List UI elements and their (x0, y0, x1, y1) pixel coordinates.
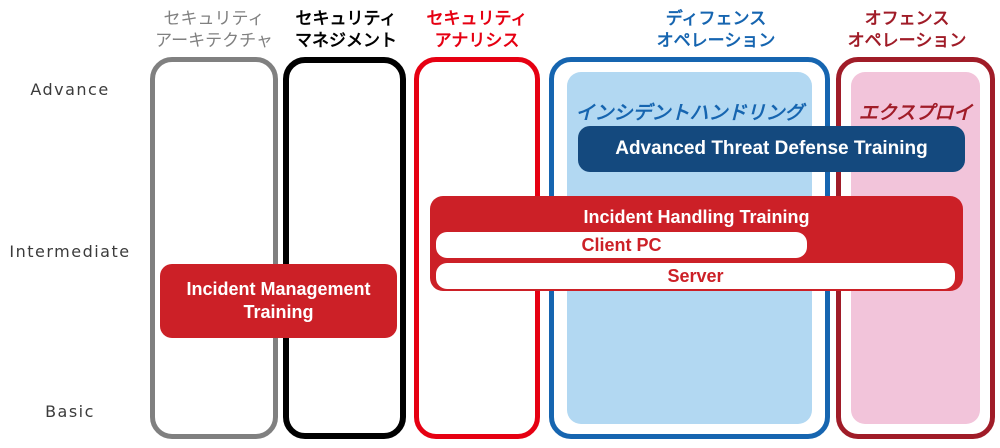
column-header-security-management: セキュリティ マネジメント (272, 8, 420, 52)
course-box-incident-handling-training[interactable]: Incident Handling Training Client PC Ser… (430, 196, 963, 291)
course-box-incident-handling-training-label: Incident Handling Training (430, 207, 963, 228)
course-variant-server[interactable]: Server (436, 263, 955, 289)
axis-label-advance: Advance (0, 80, 140, 99)
course-variant-client-pc[interactable]: Client PC (436, 232, 807, 258)
column-frame-security-management[interactable] (283, 57, 406, 439)
course-box-advanced-threat-defense-training[interactable]: Advanced Threat Defense Training (578, 126, 965, 172)
column-header-security-architecture: セキュリティ アーキテクチャ (140, 8, 288, 52)
column-header-offense-operation: オフェンス オペレーション (818, 8, 996, 52)
column-header-defense-operation: ディフェンス オペレーション (616, 8, 816, 52)
inner-panel-label-incident-handling: インシデントハンドリング (567, 98, 812, 125)
skill-map-diagram: セキュリティ アーキテクチャ セキュリティ マネジメント セキュリティ アナリシ… (0, 0, 1000, 448)
column-header-security-analysis: セキュリティ アナリシス (403, 8, 551, 52)
column-frame-security-architecture[interactable] (150, 57, 278, 439)
axis-label-basic: Basic (0, 402, 140, 421)
axis-label-intermediate: Intermediate (0, 242, 140, 261)
course-box-incident-management-training[interactable]: Incident Management Training (160, 264, 397, 338)
